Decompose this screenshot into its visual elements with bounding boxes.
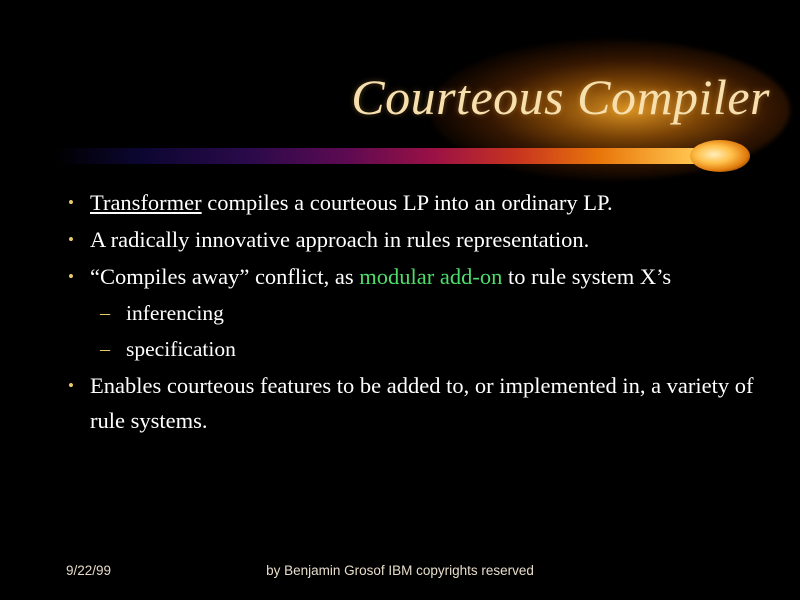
list-item: –inferencing — [100, 296, 758, 330]
bullet-dot-icon: • — [58, 259, 90, 294]
text-segment: Enables courteous features to be added t… — [90, 373, 754, 433]
bullet-dot-icon: • — [58, 222, 90, 257]
list-item-label: “Compiles away” conflict, as modular add… — [90, 259, 758, 294]
text-segment: specification — [126, 337, 236, 361]
text-segment: inferencing — [126, 301, 224, 325]
slide-footer: 9/22/99 by Benjamin Grosof IBM copyright… — [0, 563, 800, 587]
text-segment: modular add-on — [359, 264, 502, 289]
text-segment: to rule system X’s — [502, 264, 671, 289]
text-segment: “Compiles away” conflict, as — [90, 264, 359, 289]
bullet-dot-icon: • — [58, 185, 90, 220]
list-item: –specification — [100, 332, 758, 366]
list-item: •Transformer compiles a courteous LP int… — [58, 185, 758, 220]
list-item-label: Enables courteous features to be added t… — [90, 368, 758, 438]
bullet-dash-icon: – — [100, 332, 126, 366]
list-item-label: specification — [126, 332, 758, 366]
page-title: Courteous Compiler — [0, 68, 770, 126]
title-divider-bar — [55, 148, 745, 164]
list-item: •A radically innovative approach in rule… — [58, 222, 758, 257]
bullet-list: •Transformer compiles a courteous LP int… — [58, 185, 758, 440]
list-item-label: A radically innovative approach in rules… — [90, 222, 758, 257]
text-segment: Transformer — [90, 190, 202, 215]
bullet-dash-icon: – — [100, 296, 126, 330]
slide: Courteous Compiler •Transformer compiles… — [0, 0, 800, 600]
footer-credit: by Benjamin Grosof IBM copyrights reserv… — [0, 563, 800, 578]
bullet-dot-icon: • — [58, 368, 90, 403]
list-item-label: inferencing — [126, 296, 758, 330]
text-segment: A radically innovative approach in rules… — [90, 227, 589, 252]
text-segment: compiles a courteous LP into an ordinary… — [202, 190, 613, 215]
list-item: •Enables courteous features to be added … — [58, 368, 758, 438]
list-item: •“Compiles away” conflict, as modular ad… — [58, 259, 758, 294]
list-item-label: Transformer compiles a courteous LP into… — [90, 185, 758, 220]
title-divider-bar-cap — [690, 140, 750, 172]
